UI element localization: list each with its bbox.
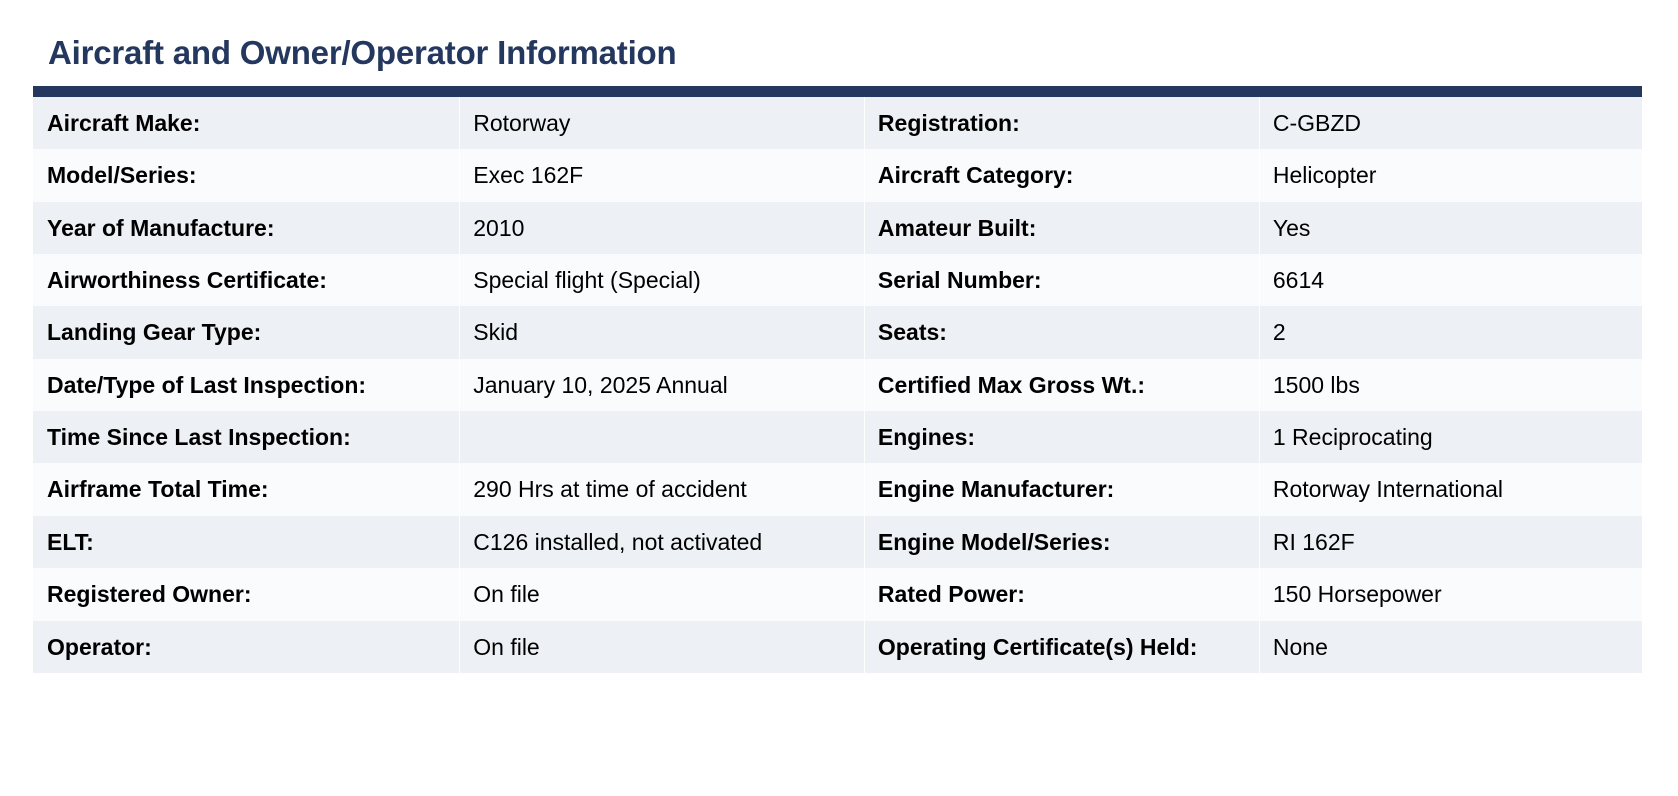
row-label-left: Time Since Last Inspection:	[33, 411, 459, 463]
row-value-right: 1500 lbs	[1259, 359, 1642, 411]
row-label-left: Registered Owner:	[33, 568, 459, 620]
table-row: Airframe Total Time:290 Hrs at time of a…	[33, 463, 1642, 515]
row-value-left: On file	[459, 568, 864, 620]
row-value-right: Helicopter	[1259, 149, 1642, 201]
page-title: Aircraft and Owner/Operator Information	[48, 34, 1642, 72]
row-value-left: Exec 162F	[459, 149, 864, 201]
row-value-right: 1 Reciprocating	[1259, 411, 1642, 463]
row-label-right: Certified Max Gross Wt.:	[864, 359, 1259, 411]
row-value-right: Yes	[1259, 202, 1642, 254]
row-label-right: Operating Certificate(s) Held:	[864, 621, 1259, 673]
table-row: Operator:On fileOperating Certificate(s)…	[33, 621, 1642, 673]
row-label-right: Engine Model/Series:	[864, 516, 1259, 568]
row-label-left: ELT:	[33, 516, 459, 568]
row-label-left: Model/Series:	[33, 149, 459, 201]
table-row: Date/Type of Last Inspection:January 10,…	[33, 359, 1642, 411]
row-value-left: January 10, 2025 Annual	[459, 359, 864, 411]
row-value-left: C126 installed, not activated	[459, 516, 864, 568]
row-label-left: Operator:	[33, 621, 459, 673]
row-label-right: Aircraft Category:	[864, 149, 1259, 201]
row-value-left: On file	[459, 621, 864, 673]
row-label-left: Aircraft Make:	[33, 97, 459, 149]
table-body: Aircraft Make:RotorwayRegistration:C-GBZ…	[33, 97, 1642, 673]
row-value-right: 2	[1259, 306, 1642, 358]
row-label-right: Engine Manufacturer:	[864, 463, 1259, 515]
table-row: Year of Manufacture:2010Amateur Built:Ye…	[33, 202, 1642, 254]
row-label-left: Airframe Total Time:	[33, 463, 459, 515]
row-value-right: C-GBZD	[1259, 97, 1642, 149]
table-row: Aircraft Make:RotorwayRegistration:C-GBZ…	[33, 97, 1642, 149]
row-value-left: 2010	[459, 202, 864, 254]
row-value-left: Skid	[459, 306, 864, 358]
row-label-right: Engines:	[864, 411, 1259, 463]
table-row: ELT:C126 installed, not activatedEngine …	[33, 516, 1642, 568]
row-value-right: 150 Horsepower	[1259, 568, 1642, 620]
row-value-right: Rotorway International	[1259, 463, 1642, 515]
aircraft-information-table: Aircraft Make:RotorwayRegistration:C-GBZ…	[33, 97, 1642, 673]
row-value-left: Special flight (Special)	[459, 254, 864, 306]
row-label-left: Landing Gear Type:	[33, 306, 459, 358]
row-label-right: Serial Number:	[864, 254, 1259, 306]
table-row: Time Since Last Inspection:Engines:1 Rec…	[33, 411, 1642, 463]
row-label-left: Date/Type of Last Inspection:	[33, 359, 459, 411]
row-label-right: Rated Power:	[864, 568, 1259, 620]
row-label-left: Year of Manufacture:	[33, 202, 459, 254]
section-header-bar	[33, 86, 1642, 97]
table-row: Airworthiness Certificate:Special flight…	[33, 254, 1642, 306]
row-value-left: 290 Hrs at time of accident	[459, 463, 864, 515]
aircraft-information-page: Aircraft and Owner/Operator Information …	[0, 0, 1678, 796]
row-label-right: Registration:	[864, 97, 1259, 149]
row-label-left: Airworthiness Certificate:	[33, 254, 459, 306]
row-value-left	[459, 411, 864, 463]
row-value-left: Rotorway	[459, 97, 864, 149]
row-label-right: Seats:	[864, 306, 1259, 358]
row-value-right: 6614	[1259, 254, 1642, 306]
table-row: Model/Series:Exec 162FAircraft Category:…	[33, 149, 1642, 201]
row-value-right: RI 162F	[1259, 516, 1642, 568]
row-value-right: None	[1259, 621, 1642, 673]
row-label-right: Amateur Built:	[864, 202, 1259, 254]
table-row: Registered Owner:On fileRated Power:150 …	[33, 568, 1642, 620]
table-row: Landing Gear Type:SkidSeats:2	[33, 306, 1642, 358]
